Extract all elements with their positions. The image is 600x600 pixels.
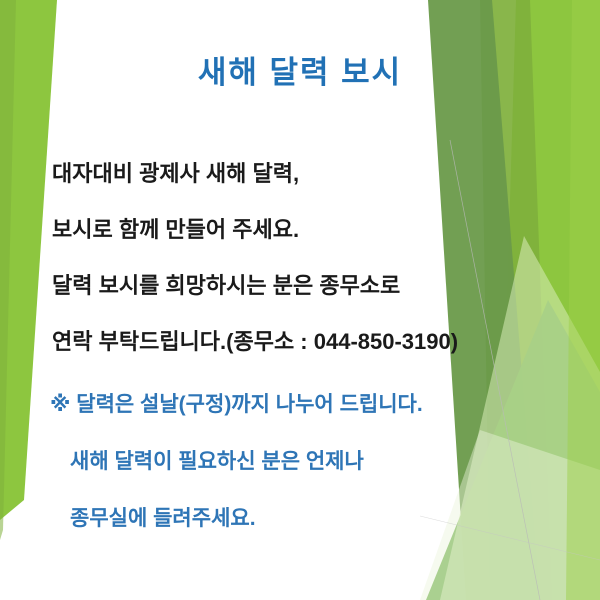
note-line-3: 종무실에 들려주세요. [70,502,256,532]
body-line-4-contact: 연락 부탁드립니다.(종무소 : 044-850-3190) [52,324,458,356]
body-line-2: 보시로 함께 만들어 주세요. [52,212,299,244]
body-line-3: 달력 보시를 희망하시는 분은 종무소로 [52,268,400,300]
slide-canvas: 새해 달력 보시 대자대비 광제사 새해 달력, 보시로 함께 만들어 주세요.… [0,0,600,600]
slide-content: 새해 달력 보시 대자대비 광제사 새해 달력, 보시로 함께 만들어 주세요.… [0,0,600,600]
slide-title: 새해 달력 보시 [0,47,600,92]
body-line-1: 대자대비 광제사 새해 달력, [52,156,299,188]
note-line-2: 새해 달력이 필요하신 분은 언제나 [70,445,364,475]
note-line-1: ※ 달력은 설날(구정)까지 나누어 드립니다. [50,388,423,418]
